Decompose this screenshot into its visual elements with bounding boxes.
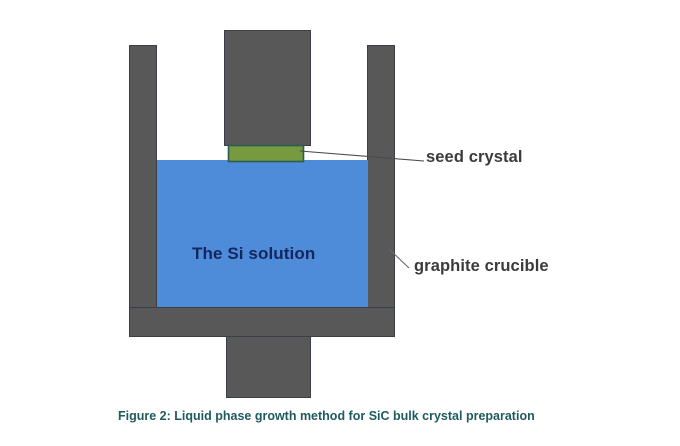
seed-crystal-block (229, 146, 304, 162)
crucible-right-wall (368, 46, 395, 308)
figure-container: seed crystal graphite crucible The Si so… (0, 0, 680, 446)
crucible-left-wall (130, 46, 157, 308)
crucible-bottom (130, 308, 395, 337)
crucible-pedestal (227, 337, 311, 398)
liquid-phase-growth-diagram (0, 0, 680, 446)
seed-holder-rod (225, 31, 311, 146)
si-solution-label: The Si solution (192, 244, 315, 264)
seed-crystal-label: seed crystal (426, 148, 523, 167)
figure-caption: Figure 2: Liquid phase growth method for… (118, 409, 535, 423)
graphite-crucible-label: graphite crucible (414, 257, 549, 276)
si-solution-melt (157, 160, 368, 307)
